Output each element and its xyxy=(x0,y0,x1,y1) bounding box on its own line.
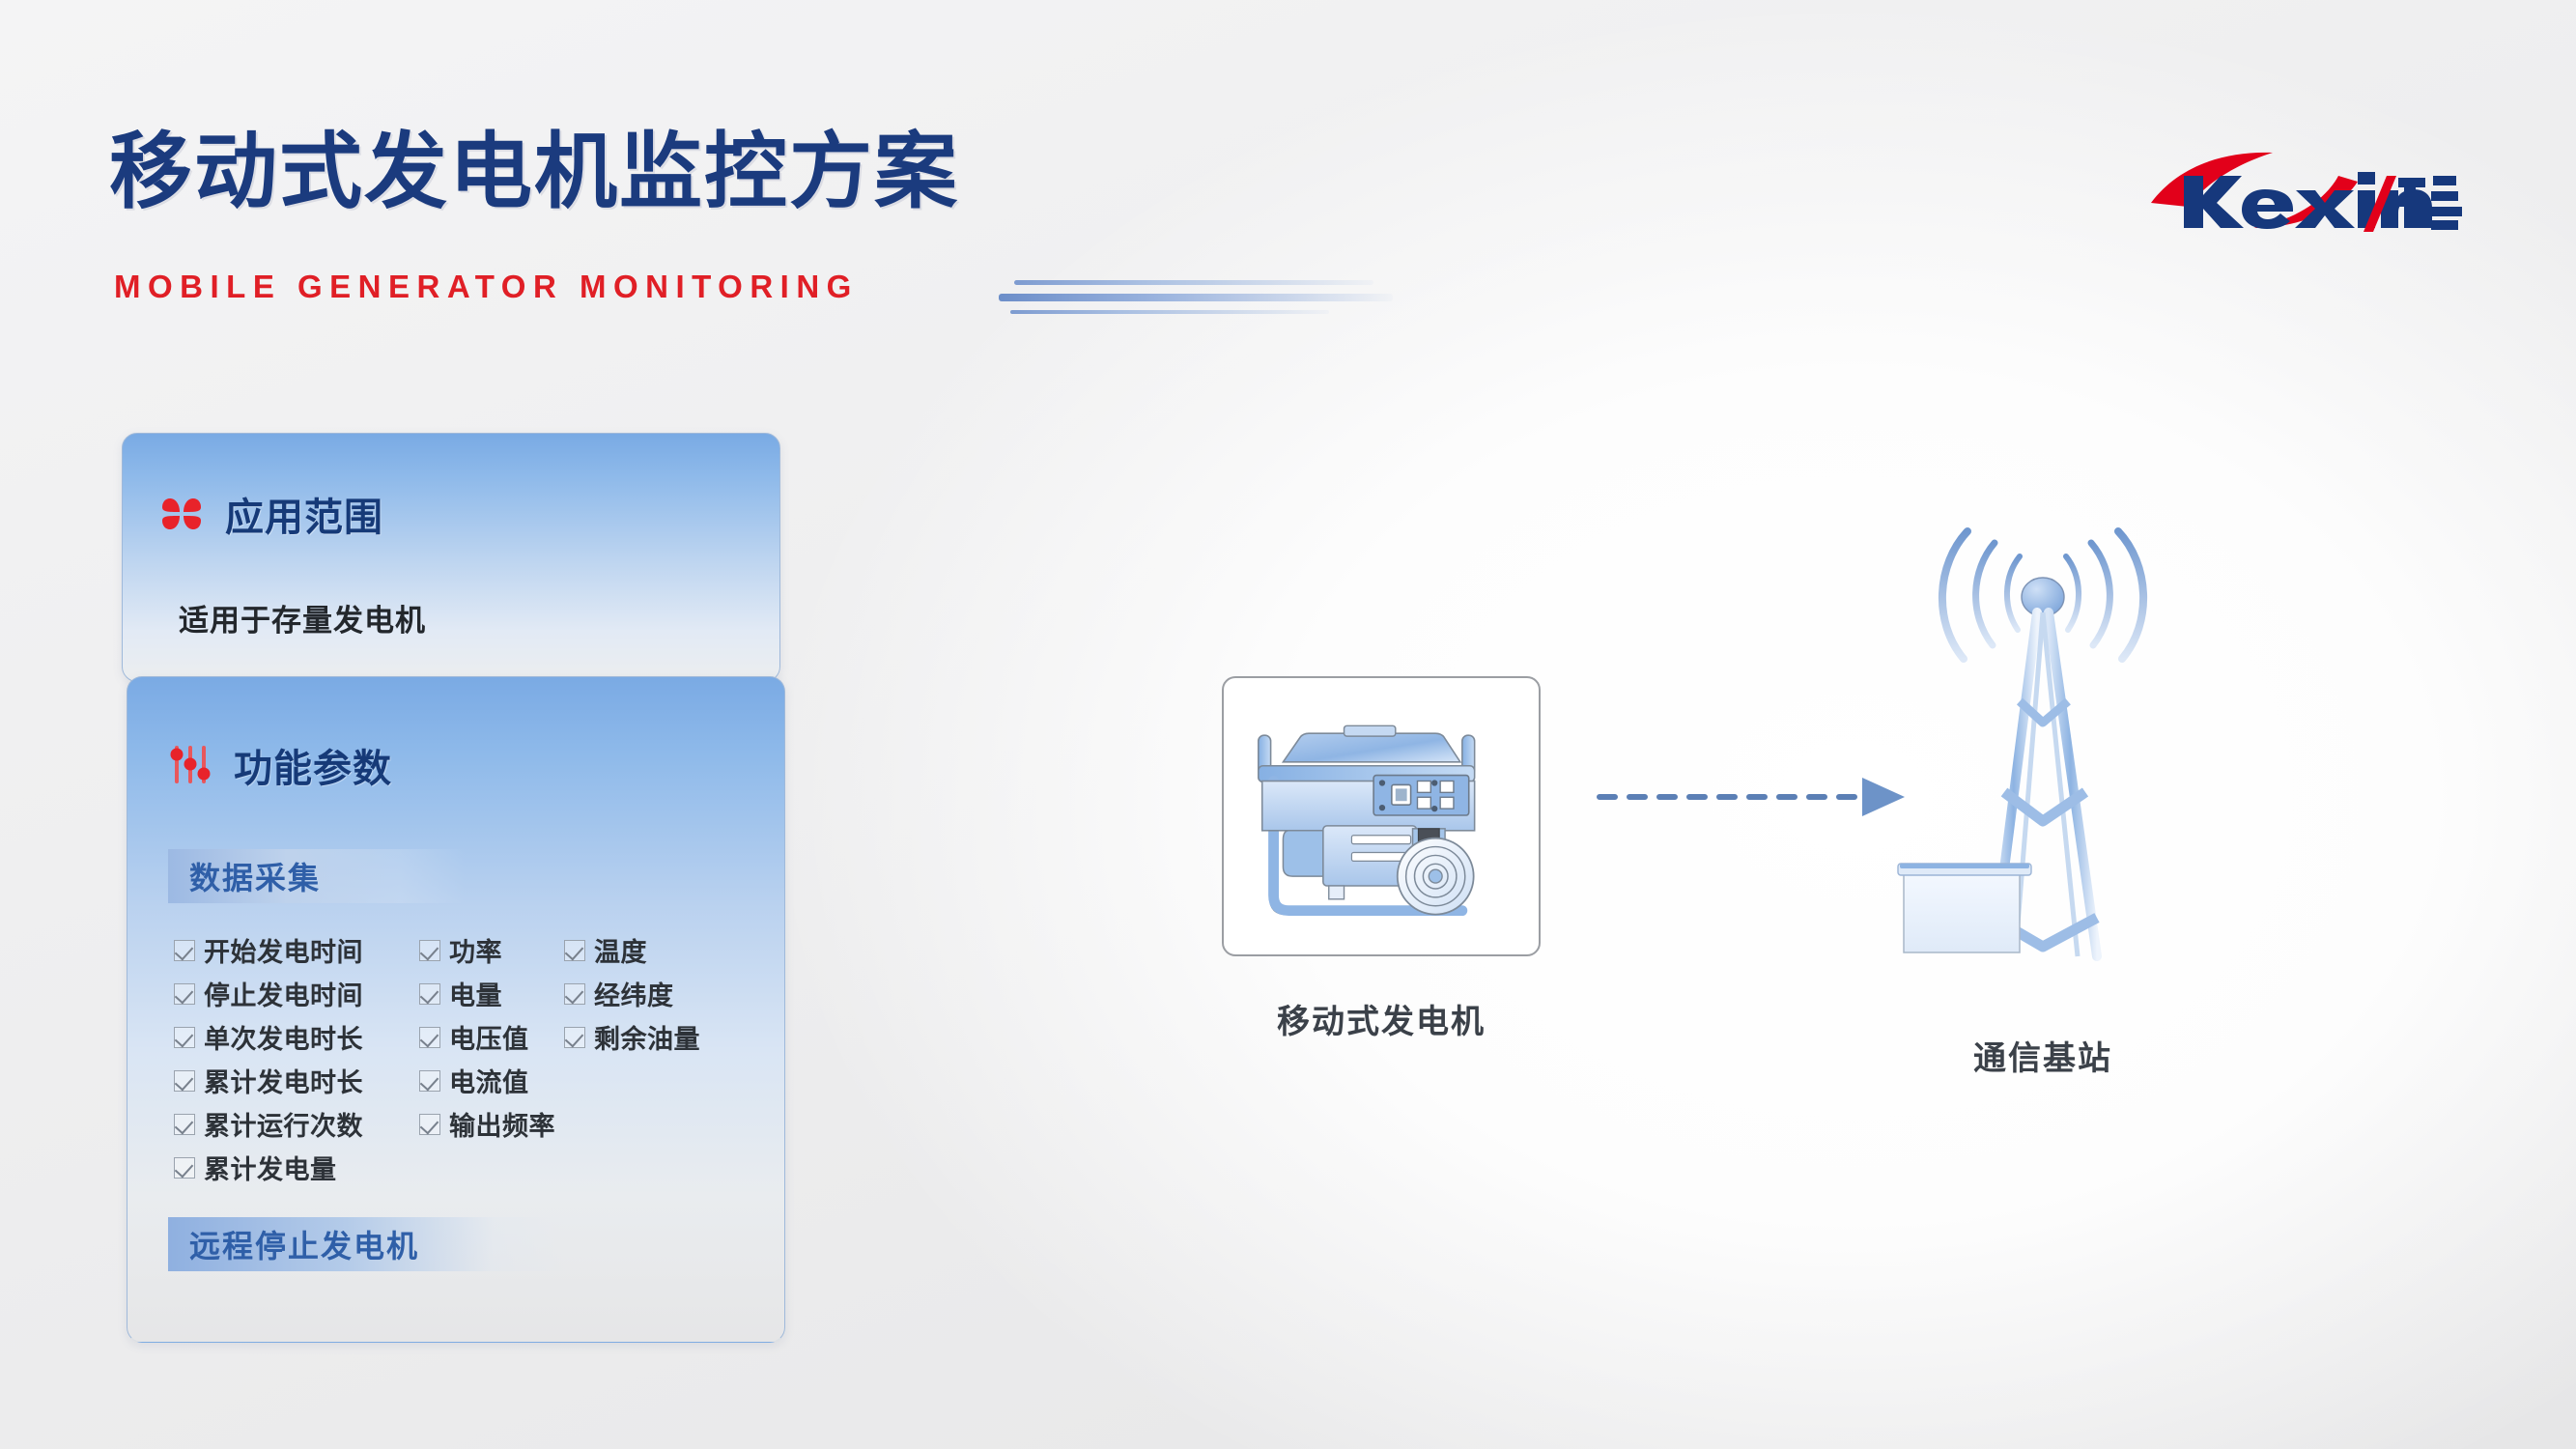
checklist-item[interactable]: 输出频率 xyxy=(419,1105,564,1143)
checkbox-icon[interactable] xyxy=(174,940,195,961)
checklist-item[interactable]: 经纬度 xyxy=(564,975,748,1012)
checklist-item-label: 累计发电时长 xyxy=(204,1062,363,1099)
scope-card-header: 应用范围 xyxy=(159,486,383,542)
slide-canvas: 移动式发电机监控方案 MOBILE GENERATOR MONITORING xyxy=(0,0,2576,1449)
rule-line-2 xyxy=(999,294,1393,301)
checklist-item-label: 累计运行次数 xyxy=(204,1105,363,1143)
sliders-icon xyxy=(168,743,212,787)
params-card-title: 功能参数 xyxy=(234,737,392,793)
checklist-item-label: 输出频率 xyxy=(449,1105,555,1143)
clover-icon xyxy=(159,492,204,536)
checklist-row: 开始发电时间 功率 温度 xyxy=(174,928,753,972)
checklist-item-label: 电流值 xyxy=(449,1062,529,1099)
data-collection-checklist: 开始发电时间 功率 温度 停止发电时间 电量 xyxy=(174,928,753,1189)
checklist-item-label: 累计发电量 xyxy=(204,1149,337,1186)
application-scope-card: 应用范围 适用于存量发电机 xyxy=(122,433,780,682)
checklist-item[interactable]: 电压值 xyxy=(419,1018,564,1056)
tower-label: 通信基站 xyxy=(1888,1032,2197,1079)
page-title: 移动式发电机监控方案 xyxy=(109,130,959,213)
checklist-item[interactable]: 停止发电时间 xyxy=(174,975,419,1012)
checklist-item-label: 温度 xyxy=(594,931,647,969)
checklist-item[interactable]: 单次发电时长 xyxy=(174,1018,419,1056)
slide-header: 移动式发电机监控方案 MOBILE GENERATOR MONITORING xyxy=(0,0,2576,348)
checklist-item[interactable]: 温度 xyxy=(564,931,748,969)
checkbox-icon[interactable] xyxy=(174,1157,195,1179)
page-subtitle: MOBILE GENERATOR MONITORING xyxy=(114,269,859,305)
checklist-item[interactable]: 累计运行次数 xyxy=(174,1105,419,1143)
checkbox-icon[interactable] xyxy=(564,1027,585,1048)
rule-line-3 xyxy=(1010,310,1329,314)
checklist-item-label: 经纬度 xyxy=(594,975,674,1012)
checklist-row: 停止发电时间 电量 经纬度 xyxy=(174,972,753,1015)
checklist-item[interactable]: 电量 xyxy=(419,975,564,1012)
checklist-item-label: 电压值 xyxy=(449,1018,529,1056)
checklist-row: 累计运行次数 输出频率 xyxy=(174,1102,753,1146)
checkbox-icon[interactable] xyxy=(564,940,585,961)
checklist-item-label: 功率 xyxy=(449,931,502,969)
checklist-item[interactable]: 功率 xyxy=(419,931,564,969)
checkbox-icon[interactable] xyxy=(419,1027,440,1048)
checklist-row: 累计发电量 xyxy=(174,1146,753,1189)
cell-tower-icon xyxy=(1888,502,2197,1024)
checkbox-icon[interactable] xyxy=(174,983,195,1005)
checkbox-icon[interactable] xyxy=(419,983,440,1005)
checklist-item[interactable]: 开始发电时间 xyxy=(174,931,419,969)
function-parameters-card: 功能参数 数据采集 开始发电时间 功率 温度 xyxy=(127,676,785,1343)
checklist-item[interactable]: 累计发电时长 xyxy=(174,1062,419,1099)
checkbox-icon[interactable] xyxy=(419,1070,440,1092)
generator-image-card xyxy=(1222,676,1541,956)
params-card-header: 功能参数 xyxy=(168,737,392,793)
decorative-rules xyxy=(987,273,1393,314)
checklist-item[interactable]: 剩余油量 xyxy=(564,1018,748,1056)
portable-generator-icon xyxy=(1224,678,1539,954)
section-label-data-collection: 数据采集 xyxy=(168,849,466,903)
checklist-item-label: 剩余油量 xyxy=(594,1018,700,1056)
dashed-arrow-right-icon xyxy=(1594,773,1912,821)
checklist-item-label: 停止发电时间 xyxy=(204,975,363,1012)
checklist-item-label: 电量 xyxy=(449,975,502,1012)
kexin-logo xyxy=(2149,147,2468,236)
rule-line-1 xyxy=(1014,280,1373,285)
checklist-item-label: 单次发电时长 xyxy=(204,1018,363,1056)
generator-label: 移动式发电机 xyxy=(1222,995,1541,1042)
scope-card-body: 适用于存量发电机 xyxy=(179,596,426,639)
checkbox-icon[interactable] xyxy=(419,940,440,961)
section-label-remote-stop: 远程停止发电机 xyxy=(168,1217,564,1271)
checkbox-icon[interactable] xyxy=(174,1114,195,1135)
checkbox-icon[interactable] xyxy=(174,1027,195,1048)
scope-card-title: 应用范围 xyxy=(225,486,383,542)
checklist-item[interactable]: 累计发电量 xyxy=(174,1149,419,1186)
checklist-item[interactable]: 电流值 xyxy=(419,1062,564,1099)
checklist-row: 单次发电时长 电压值 剩余油量 xyxy=(174,1015,753,1059)
checkbox-icon[interactable] xyxy=(174,1070,195,1092)
checkbox-icon[interactable] xyxy=(564,983,585,1005)
checkbox-icon[interactable] xyxy=(419,1114,440,1135)
checklist-item-label: 开始发电时间 xyxy=(204,931,363,969)
checklist-row: 累计发电时长 电流值 xyxy=(174,1059,753,1102)
